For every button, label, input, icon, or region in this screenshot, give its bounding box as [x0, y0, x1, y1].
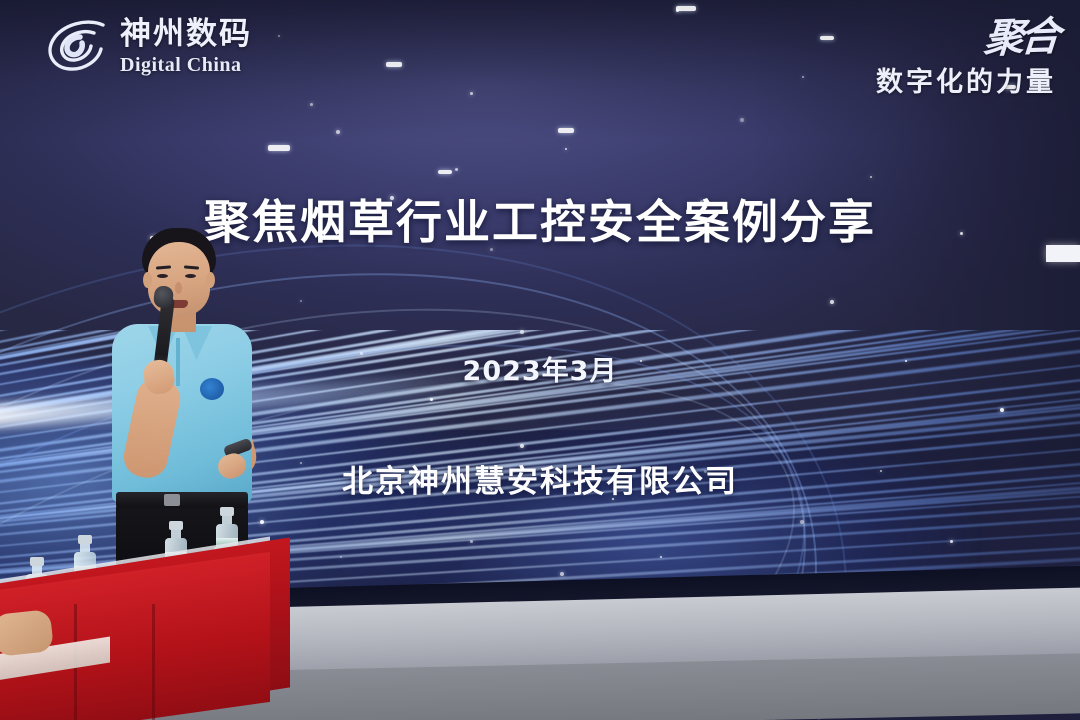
presenter-eye-left [157, 274, 168, 278]
presenter-ear-left [143, 272, 152, 288]
digital-china-logo: 神州数码 Digital China [44, 16, 252, 78]
presenter-belt-buckle [164, 494, 180, 506]
presenter-nose [175, 282, 182, 294]
event-tagline-cn: 数字化的力量 [876, 60, 1056, 99]
presenter-belt [116, 492, 248, 508]
conference-photo: 神州数码 Digital China 聚合 数字化的力量 聚焦烟草行业工控安全案… [0, 0, 1080, 720]
presenter-eye-right [185, 274, 196, 278]
event-seal-cn: 聚合 [982, 17, 1057, 59]
presenter-ear-right [206, 272, 215, 288]
event-brand-mark: 聚合 数字化的力量 [876, 18, 1056, 99]
chest-logo-badge-icon [200, 378, 224, 400]
logo-wordmark: 神州数码 Digital China [120, 19, 252, 75]
logo-name-cn: 神州数码 [120, 19, 252, 50]
foreground-table-area [0, 560, 1080, 720]
table-fold [152, 604, 155, 720]
presenter-shirt-placket [176, 338, 180, 386]
swirl-logo-icon [44, 16, 108, 78]
logo-name-en: Digital China [120, 55, 252, 75]
